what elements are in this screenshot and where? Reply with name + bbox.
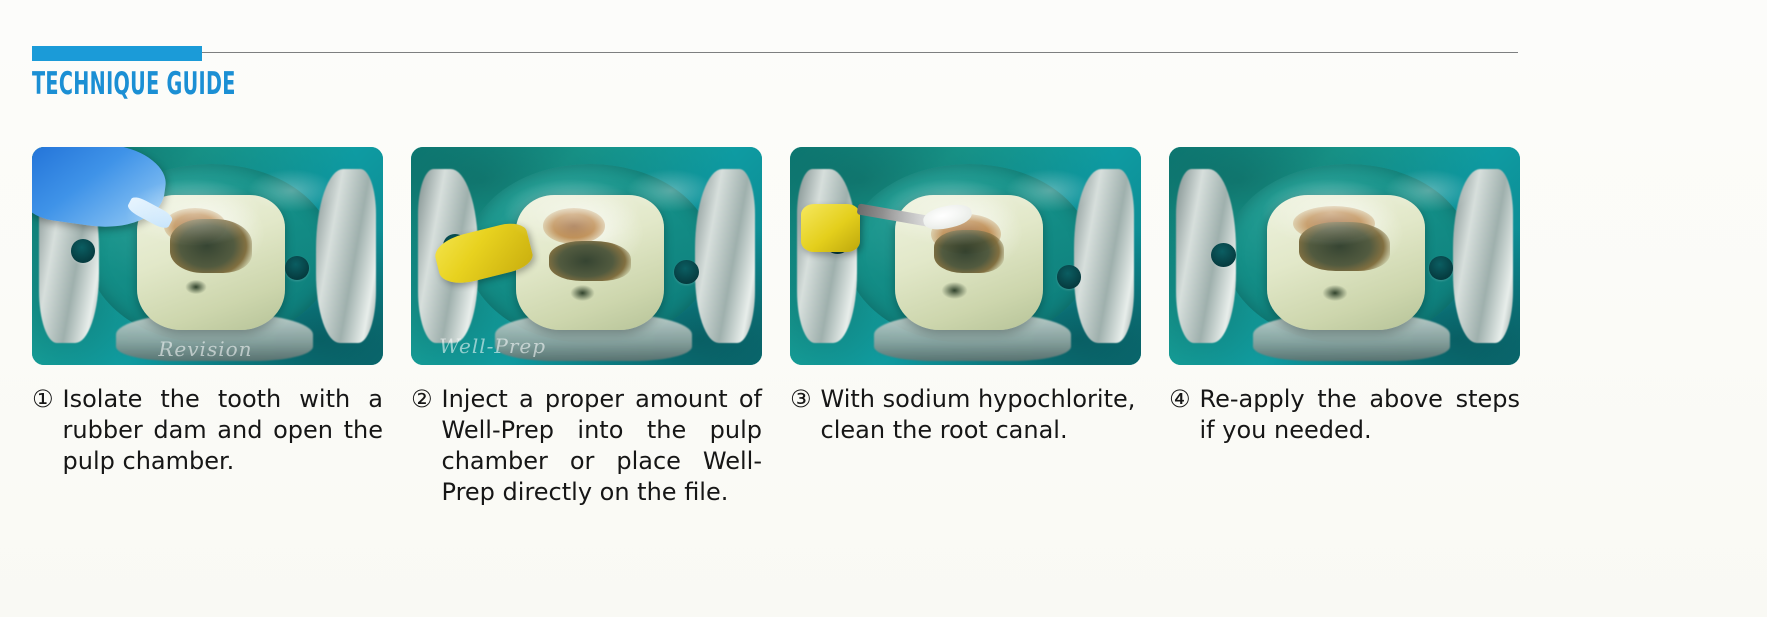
step-caption-2: ② Inject a proper amount of Well-Prep in… (411, 384, 762, 508)
photo-overlay-text-1: Revision (158, 337, 252, 361)
tooth-spot (1321, 284, 1349, 302)
tooth (1267, 195, 1425, 330)
clamp-right (316, 169, 376, 343)
clamp-right (1453, 169, 1513, 343)
step-photo-2: Well-Prep (411, 147, 762, 365)
clamp-right (1074, 169, 1134, 343)
pulp-chamber-opening (1299, 222, 1391, 271)
clamp-right (695, 169, 755, 343)
step-text-2: Inject a proper amount of Well-Prep into… (442, 384, 762, 508)
step-item-2: Well-Prep ② Inject a proper amount of We… (411, 147, 762, 508)
step-caption-4: ④ Re-apply the above steps if you needed… (1169, 384, 1520, 446)
clamp-hole-right (1429, 256, 1454, 280)
step-item-1: Revision ① Isolate the tooth with a rubb… (32, 147, 383, 508)
header-divider (32, 52, 1518, 53)
clamp-left (797, 169, 857, 343)
photo-overlay-text-2: Well-Prep (439, 334, 546, 358)
step-marker-1: ① (32, 384, 54, 415)
clamp-hole-left (1211, 243, 1236, 267)
tooth (516, 195, 663, 330)
tooth-spot (940, 281, 969, 300)
caries-lesion (543, 208, 605, 243)
tooth-spot (184, 279, 208, 295)
clamp-hole-right (674, 260, 699, 284)
step-text-3: With sodium hypochlorite, clean the root… (821, 384, 1141, 446)
clamp-hole-right (285, 256, 310, 280)
technique-guide-page: TECHNIQUE GUIDE (0, 0, 1767, 617)
step-marker-4: ④ (1169, 384, 1191, 415)
pulp-chamber-opening (549, 241, 632, 282)
step-photo-1: Revision (32, 147, 383, 365)
step-text-1: Isolate the tooth with a rubber dam and … (63, 384, 383, 477)
step-caption-3: ③ With sodium hypochlorite, clean the ro… (790, 384, 1141, 446)
header-rule-row (32, 36, 1518, 54)
step-photo-3 (790, 147, 1141, 365)
pulp-chamber-opening (170, 219, 253, 273)
clamp-hole-left (71, 239, 96, 263)
step-photo-4 (1169, 147, 1520, 365)
step-marker-3: ③ (790, 384, 812, 415)
step-item-4: ④ Re-apply the above steps if you needed… (1169, 147, 1520, 508)
clamp-hole-right (1057, 265, 1082, 289)
step-text-4: Re-apply the above steps if you needed. (1200, 384, 1520, 446)
tooth-spot (569, 284, 596, 302)
step-marker-2: ② (411, 384, 433, 415)
page-header: TECHNIQUE GUIDE (32, 36, 1518, 101)
step-item-3: ③ With sodium hypochlorite, clean the ro… (790, 147, 1141, 508)
pulp-chamber-opening (934, 230, 1005, 273)
hypochlorite-cap (801, 204, 861, 252)
page-title: TECHNIQUE GUIDE (32, 54, 953, 101)
steps-row: Revision ① Isolate the tooth with a rubb… (32, 147, 1520, 508)
step-caption-1: ① Isolate the tooth with a rubber dam an… (32, 384, 383, 477)
